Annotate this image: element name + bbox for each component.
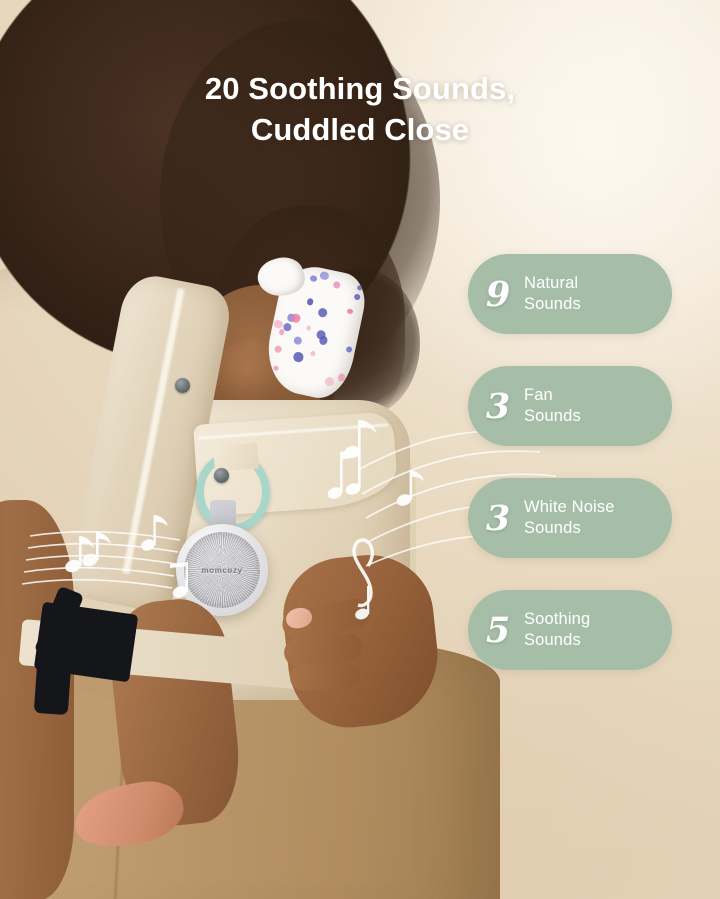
headband-floral-dot — [345, 346, 353, 354]
headband-floral-dot — [324, 376, 334, 386]
badge-label-line-2: Sounds — [524, 518, 615, 539]
product-banner: momcozy — [0, 0, 720, 899]
mother-finger-3 — [290, 663, 361, 691]
badge-count: 3 — [468, 389, 524, 424]
headband-floral-dot — [307, 298, 315, 306]
feature-badge-soothing-sounds[interactable]: 5 Soothing Sounds — [468, 590, 672, 670]
headband-floral-dot — [310, 275, 318, 283]
feature-badge-natural-sounds[interactable]: 9 Natural Sounds — [468, 254, 672, 334]
badge-count: 3 — [468, 501, 524, 536]
badge-label: Natural Sounds — [524, 273, 591, 315]
badge-label-line-1: Fan — [524, 385, 581, 406]
badge-count: 5 — [468, 613, 524, 648]
headband-floral-dot — [274, 345, 282, 353]
headband-floral-dot — [274, 366, 279, 371]
feature-badge-fan-sounds[interactable]: 3 Fan Sounds — [468, 366, 672, 446]
badge-label-line-1: Soothing — [524, 609, 590, 630]
headband-floral-dot — [347, 308, 354, 315]
badge-label: White Noise Sounds — [524, 497, 625, 539]
headband-floral-dot — [273, 320, 283, 330]
feature-badge-white-noise-sounds[interactable]: 3 White Noise Sounds — [468, 478, 672, 558]
badge-label-line-2: Sounds — [524, 406, 581, 427]
badge-count: 9 — [468, 277, 524, 312]
headband-floral-dot — [357, 285, 363, 291]
badge-label-line-2: Sounds — [524, 294, 581, 315]
headband-floral-dot — [306, 326, 311, 331]
badge-label: Fan Sounds — [524, 385, 591, 427]
page-title: 20 Soothing Sounds, Cuddled Close — [0, 68, 720, 150]
badge-label-line-1: Natural — [524, 273, 581, 294]
headband-floral-dot — [317, 308, 328, 319]
badge-label-line-1: White Noise — [524, 497, 615, 518]
carrier-buckle-tail — [34, 647, 73, 715]
title-line-2: Cuddled Close — [0, 109, 720, 150]
headband-floral-dot — [278, 329, 285, 336]
carrier-snap-button-lower — [214, 468, 229, 483]
headband-floral-dot — [354, 293, 362, 301]
badge-label-line-2: Sounds — [524, 630, 590, 651]
feature-badge-list: 9 Natural Sounds 3 Fan Sounds 3 White No… — [468, 254, 672, 702]
device-speaker-mesh: momcozy — [184, 532, 260, 608]
title-line-1: 20 Soothing Sounds, — [205, 71, 515, 106]
headband-floral-dot — [293, 336, 303, 346]
headband-floral-dot — [333, 281, 341, 289]
headband-floral-dot — [290, 313, 301, 324]
headband-floral-dot — [319, 271, 329, 281]
badge-label: Soothing Sounds — [524, 609, 600, 651]
device-brand-label: momcozy — [201, 566, 242, 575]
headband-floral-dot — [310, 350, 316, 356]
carrier-snap-button-top — [175, 378, 190, 393]
headband-floral-dot — [293, 351, 304, 362]
